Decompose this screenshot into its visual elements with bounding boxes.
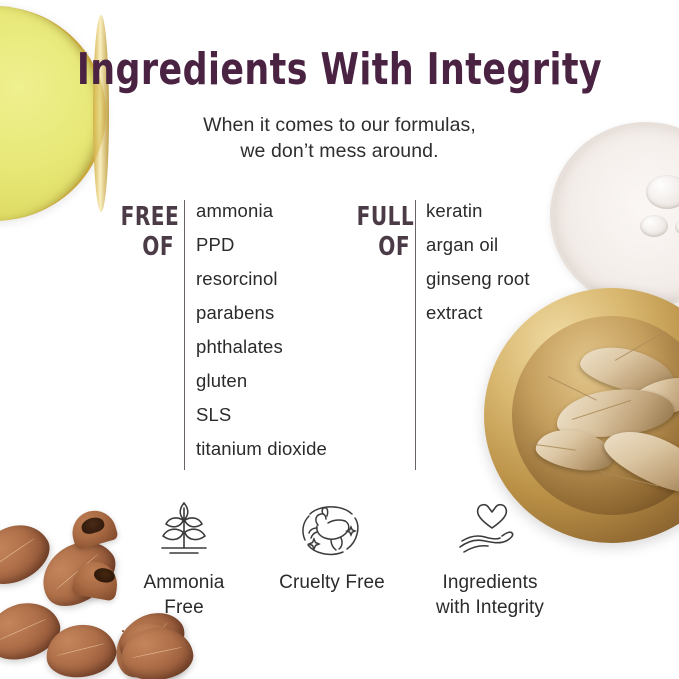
badge-caption-line-1: Ingredients — [418, 570, 562, 595]
page-subtitle: When it comes to our formulas, we don’t … — [0, 112, 679, 164]
hand-holding-heart-icon — [418, 498, 562, 560]
root-tendril — [572, 400, 631, 420]
full-of-label-line-1: FULL — [357, 202, 410, 232]
free-of-label-line-1: FREE — [121, 202, 174, 232]
badge-caption-line-2: with Integrity — [418, 595, 562, 620]
badge-ammonia-free: Ammonia Free — [118, 498, 250, 620]
badge-caption: Ingredients with Integrity — [418, 570, 562, 620]
list-item: ginseng root — [426, 262, 530, 296]
list-item: argan oil — [426, 228, 530, 262]
list-item: PPD — [196, 228, 327, 262]
badge-caption-line-2: Free — [118, 595, 250, 620]
root-tendril — [599, 471, 657, 486]
ginseng-root — [576, 339, 679, 401]
badge-ingredients-with-integrity: Ingredients with Integrity — [418, 498, 562, 620]
list-item: ammonia — [196, 194, 327, 228]
list-item: titanium dioxide — [196, 432, 327, 466]
ginseng-root — [533, 425, 616, 476]
list-item: resorcinol — [196, 262, 327, 296]
list-item: SLS — [196, 398, 327, 432]
list-item: phthalates — [196, 330, 327, 364]
ginseng-root — [553, 383, 676, 443]
argan-nut-half-shell — [67, 506, 119, 551]
list-item: extract — [426, 296, 530, 330]
ginseng-root — [597, 419, 679, 504]
serum-droplet — [675, 219, 679, 235]
full-of-label-line-2: OF — [357, 232, 410, 262]
page-title: Ingredients With Integrity — [41, 44, 639, 95]
free-of-label-line-2: OF — [121, 232, 174, 262]
argan-nut — [122, 630, 124, 632]
full-of-divider — [415, 200, 416, 470]
list-item: parabens — [196, 296, 327, 330]
subtitle-line-2: we don’t mess around. — [0, 138, 679, 164]
bowl-interior — [512, 316, 679, 515]
root-tendril — [615, 331, 666, 361]
serum-droplet — [646, 175, 679, 209]
badge-caption-line-1: Cruelty Free — [266, 570, 398, 595]
full-of-label: FULL OF — [357, 202, 410, 262]
badge-caption: Ammonia Free — [118, 570, 250, 620]
list-item: gluten — [196, 364, 327, 398]
ginseng-root — [622, 369, 679, 424]
plant-sprout-icon — [118, 498, 250, 560]
serum-droplet — [640, 215, 668, 237]
leaping-bunny-icon — [266, 498, 398, 560]
ingredients-infographic: Ingredients With Integrity When it comes… — [0, 0, 679, 679]
subtitle-line-1: When it comes to our formulas, — [0, 112, 679, 138]
badge-cruelty-free: Cruelty Free — [266, 498, 398, 595]
badge-caption-line-1: Ammonia — [118, 570, 250, 595]
root-tendril — [548, 376, 597, 401]
free-of-label: FREE OF — [121, 202, 174, 262]
root-tendril — [528, 443, 576, 451]
full-of-list: keratin argan oil ginseng root extract — [426, 194, 530, 330]
free-of-divider — [184, 200, 185, 470]
list-item: keratin — [426, 194, 530, 228]
free-of-list: ammonia PPD resorcinol parabens phthalat… — [196, 194, 327, 466]
badge-caption: Cruelty Free — [266, 570, 398, 595]
